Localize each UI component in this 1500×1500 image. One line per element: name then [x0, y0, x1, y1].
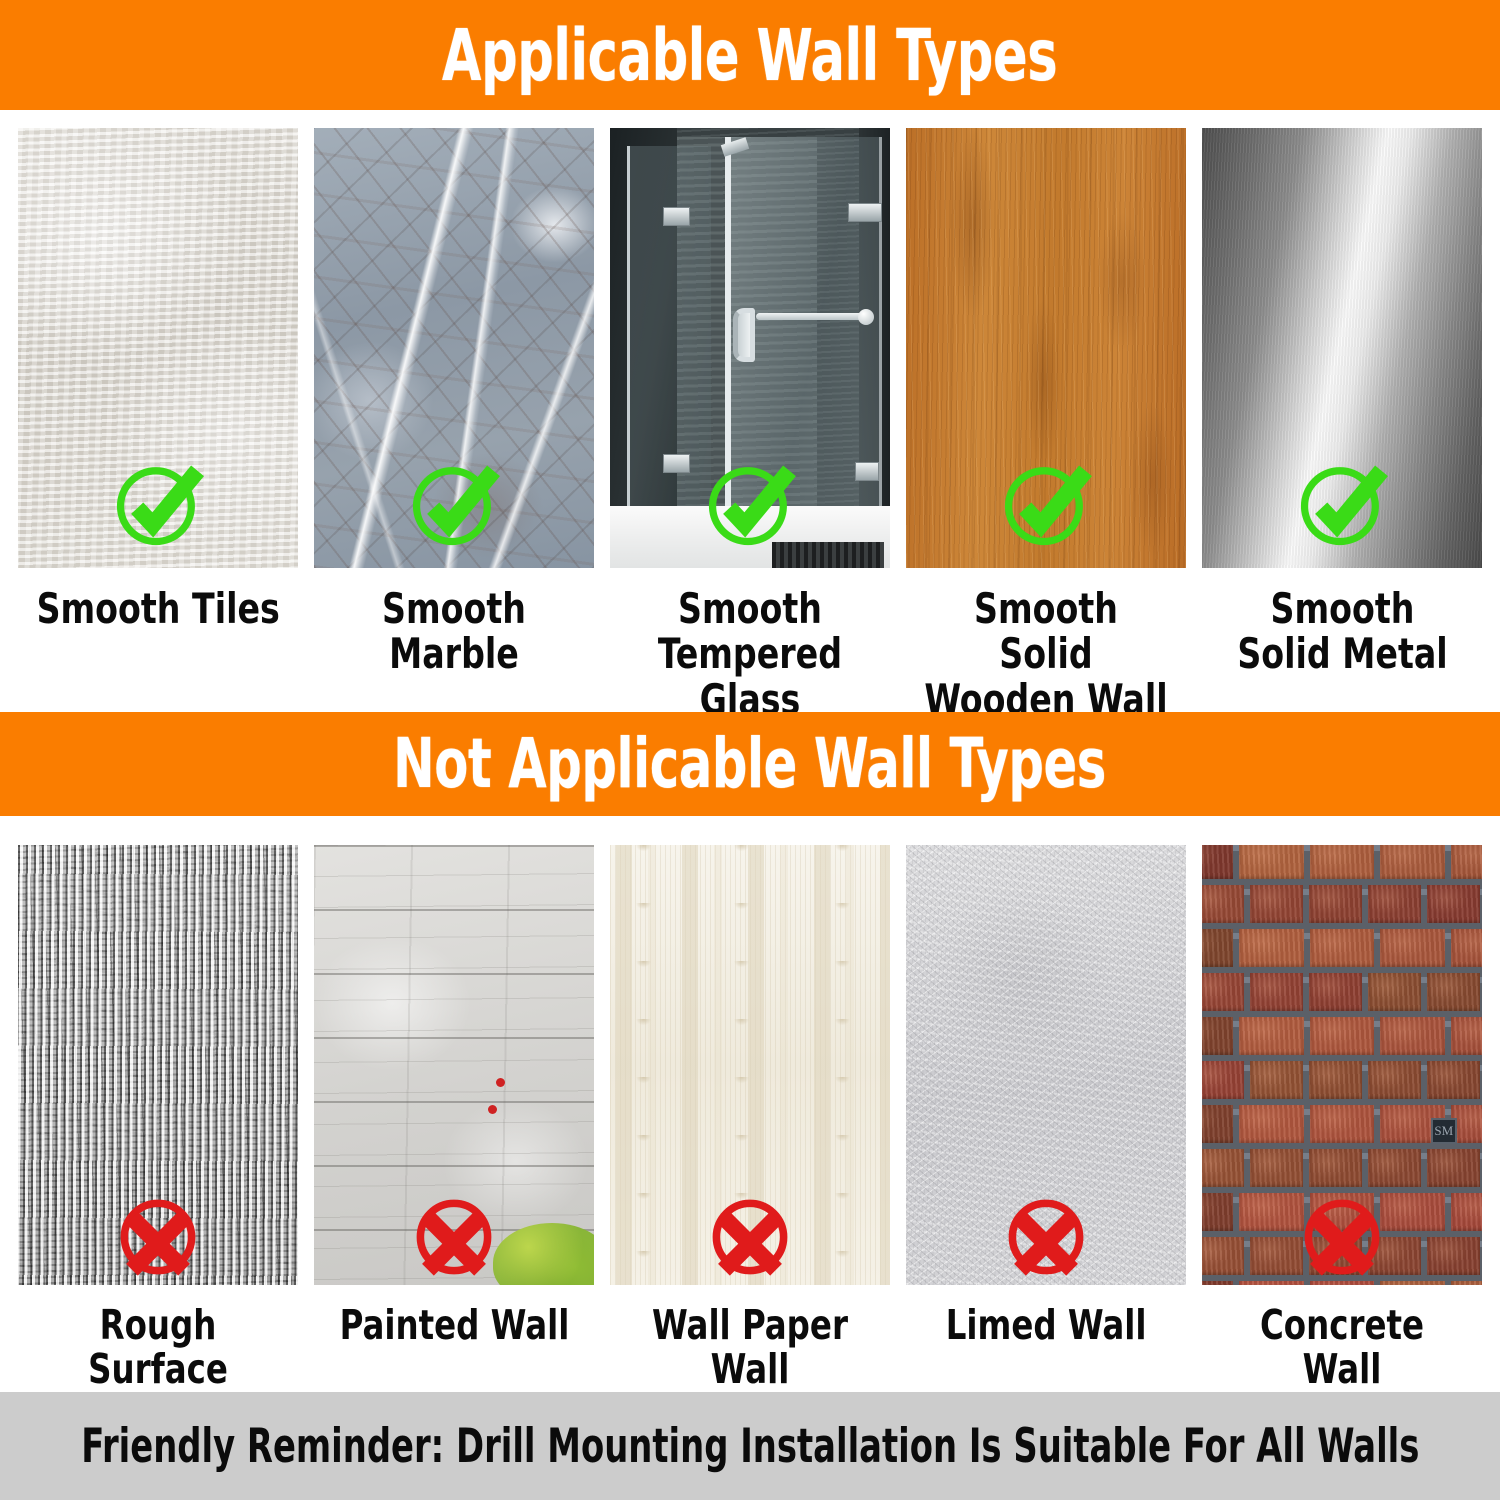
brick — [1202, 973, 1244, 1011]
brick — [1202, 1193, 1233, 1231]
brick — [1451, 1193, 1482, 1231]
brick — [1239, 1105, 1304, 1143]
brick — [1239, 1281, 1304, 1285]
not-applicable-wall-types-row: Rough Surface Painted Wall — [18, 845, 1482, 1392]
wall-type-label: Smooth Solid Wooden Wall — [923, 586, 1169, 722]
wall-type-label: Painted Wall — [339, 1303, 569, 1347]
infographic-page: Applicable Wall Types Smooth Tiles — [0, 0, 1500, 1500]
brick — [1250, 1149, 1303, 1187]
brick — [1368, 973, 1421, 1011]
wall-type-label: Concrete Wall — [1219, 1303, 1465, 1392]
brick-course — [1202, 885, 1480, 923]
brick — [1451, 929, 1482, 967]
tempered-glass-thumbnail — [610, 128, 890, 568]
damask-motif-pattern — [610, 845, 890, 1285]
applicable-section-banner: Applicable Wall Types — [0, 0, 1500, 110]
solid-wood-texture — [906, 128, 1186, 568]
brick — [1250, 973, 1303, 1011]
brick — [1250, 885, 1303, 923]
brick — [1202, 1281, 1233, 1285]
tempered-glass-shower-photo — [610, 128, 890, 568]
wall-type-card-concrete-wall[interactable]: SM Concrete Wall — [1202, 845, 1482, 1392]
brick — [1239, 929, 1304, 967]
applicable-section-title: Applicable Wall Types — [442, 20, 1057, 91]
brick — [1309, 1061, 1362, 1099]
brick-course — [1202, 845, 1482, 879]
red-marker-dot — [488, 1105, 497, 1114]
brick-course — [1202, 1017, 1482, 1055]
brick — [1309, 973, 1362, 1011]
wall-type-card-tempered-glass[interactable]: Smooth Tempered Glass — [610, 128, 890, 722]
friendly-reminder-footer: Friendly Reminder: Drill Mounting Instal… — [0, 1392, 1500, 1500]
wall-type-label: Rough Surface — [35, 1303, 281, 1392]
smooth-marble-thumbnail — [314, 128, 594, 568]
brick-stamp: SM — [1431, 1118, 1457, 1144]
brick — [1202, 1149, 1244, 1187]
solid-wood-thumbnail — [906, 128, 1186, 568]
brick-course — [1202, 1281, 1482, 1285]
brick-course — [1202, 1061, 1480, 1099]
brick — [1380, 845, 1445, 879]
rough-stucco-texture — [18, 845, 298, 1285]
wall-type-card-rough-surface[interactable]: Rough Surface — [18, 845, 298, 1392]
friendly-reminder-text: Friendly Reminder: Drill Mounting Instal… — [81, 1423, 1419, 1470]
brushed-metal-thumbnail — [1202, 128, 1482, 568]
brick — [1380, 1281, 1445, 1285]
brick — [1250, 1061, 1303, 1099]
painted-brick-texture — [314, 845, 594, 1285]
wall-type-label: Smooth Tempered Glass — [627, 586, 873, 722]
brick — [1368, 1237, 1421, 1275]
smooth-tiles-texture — [18, 128, 298, 568]
brick — [1380, 1017, 1445, 1055]
brick-course — [1202, 1193, 1482, 1231]
brick — [1427, 973, 1480, 1011]
brick — [1380, 929, 1445, 967]
brick — [1310, 929, 1375, 967]
brushed-metal-texture — [1202, 128, 1482, 568]
brick — [1368, 885, 1421, 923]
brick — [1239, 845, 1304, 879]
brick — [1250, 1237, 1303, 1275]
brick — [1202, 885, 1244, 923]
limed-wall-thumbnail — [906, 845, 1186, 1285]
wall-type-card-wallpaper-wall[interactable]: Wall Paper Wall — [610, 845, 890, 1392]
brick — [1368, 1149, 1421, 1187]
wall-type-card-smooth-tiles[interactable]: Smooth Tiles — [18, 128, 298, 722]
brick — [1427, 1237, 1480, 1275]
brick-course — [1202, 929, 1482, 967]
wall-type-label: Smooth Solid Metal — [1237, 586, 1447, 677]
wall-type-card-limed-wall[interactable]: Limed Wall — [906, 845, 1186, 1392]
brick — [1310, 1193, 1375, 1231]
brick — [1239, 1017, 1304, 1055]
brick — [1202, 1061, 1244, 1099]
wall-type-card-painted-wall[interactable]: Painted Wall — [314, 845, 594, 1392]
brick — [1310, 1105, 1375, 1143]
brick — [1309, 885, 1362, 923]
brick-course — [1202, 1149, 1480, 1187]
smooth-marble-texture — [314, 128, 594, 568]
wall-type-label: Smooth Tiles — [36, 586, 279, 631]
brick — [1310, 845, 1375, 879]
brick — [1427, 885, 1480, 923]
wall-type-card-smooth-marble[interactable]: Smooth Marble — [314, 128, 594, 722]
brick — [1310, 1017, 1375, 1055]
concrete-wall-thumbnail: SM — [1202, 845, 1482, 1285]
brick-course — [1202, 1237, 1480, 1275]
brick — [1427, 1149, 1480, 1187]
smooth-tiles-thumbnail — [18, 128, 298, 568]
not-applicable-section-banner: Not Applicable Wall Types — [0, 712, 1500, 816]
brick — [1368, 1061, 1421, 1099]
wall-type-label: Limed Wall — [946, 1303, 1147, 1347]
brick — [1239, 1193, 1304, 1231]
brick — [1451, 1017, 1482, 1055]
wall-type-card-solid-wooden-wall[interactable]: Smooth Solid Wooden Wall — [906, 128, 1186, 722]
brick — [1309, 1149, 1362, 1187]
rough-surface-thumbnail — [18, 845, 298, 1285]
striped-wallpaper-texture — [610, 845, 890, 1285]
brick — [1202, 845, 1233, 879]
brick — [1202, 929, 1233, 967]
brick — [1202, 1237, 1244, 1275]
brick — [1310, 1281, 1375, 1285]
wall-type-label: Smooth Marble — [331, 586, 577, 677]
brick — [1202, 1105, 1233, 1143]
brick — [1202, 1017, 1233, 1055]
brick — [1309, 1237, 1362, 1275]
brick — [1451, 845, 1482, 879]
painted-wall-thumbnail — [314, 845, 594, 1285]
brick — [1427, 1061, 1480, 1099]
wall-type-label: Wall Paper Wall — [627, 1303, 873, 1392]
not-applicable-section-title: Not Applicable Wall Types — [394, 730, 1107, 799]
red-brick-texture — [1202, 845, 1482, 1285]
brick — [1451, 1281, 1482, 1285]
brick — [1380, 1193, 1445, 1231]
wall-type-card-solid-metal[interactable]: Smooth Solid Metal — [1202, 128, 1482, 722]
wallpaper-thumbnail — [610, 845, 890, 1285]
limed-plaster-texture — [906, 845, 1186, 1285]
brick-course — [1202, 973, 1480, 1011]
applicable-wall-types-row: Smooth Tiles Smooth Marble — [18, 128, 1482, 722]
